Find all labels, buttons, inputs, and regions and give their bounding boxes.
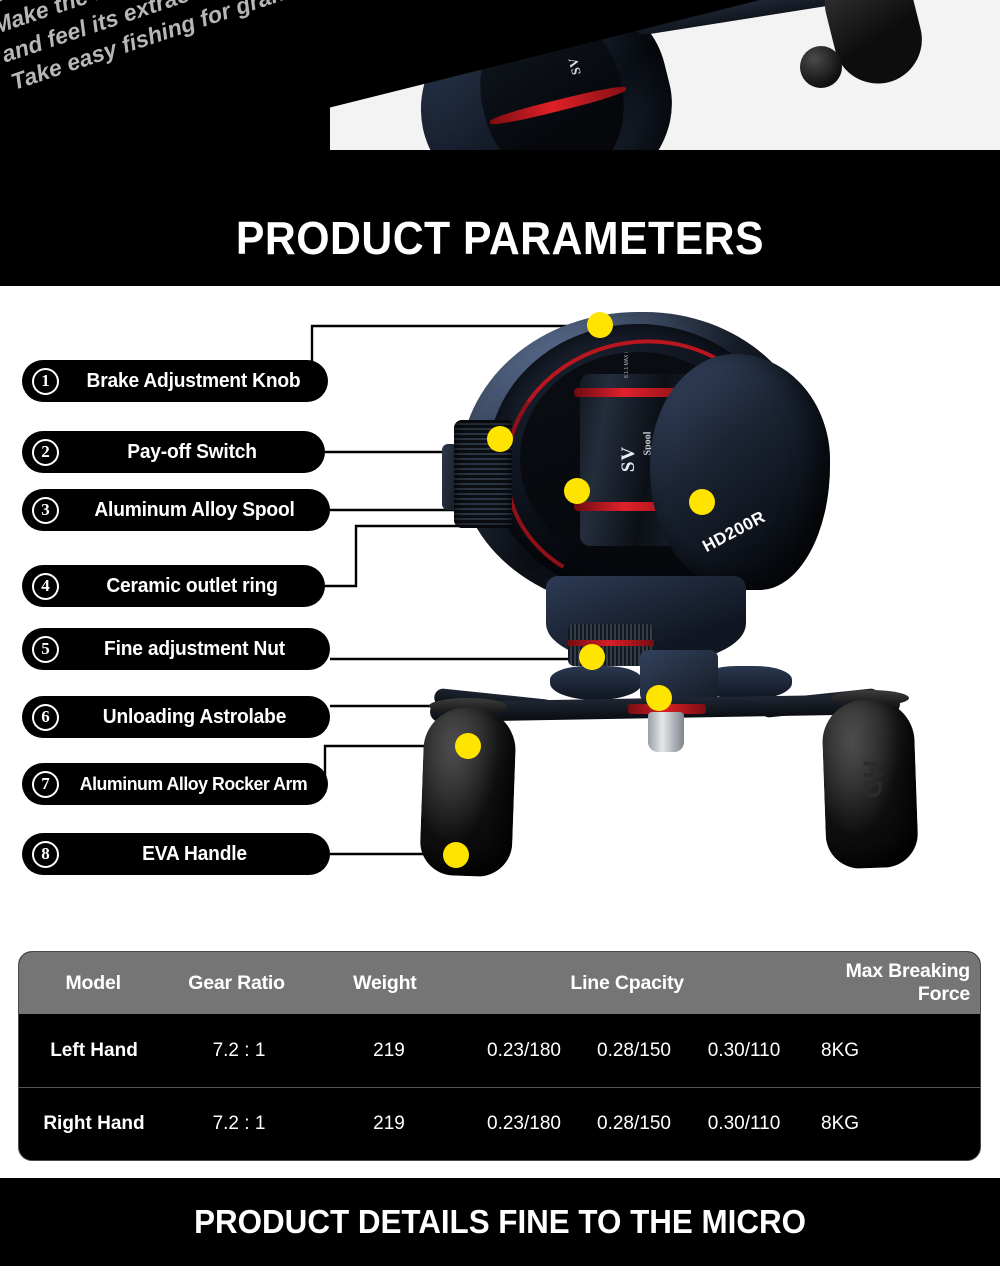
callout-dot-4 xyxy=(689,489,715,515)
header-max-breaking-force: Max Breaking Force xyxy=(790,960,980,1006)
callout-dot-3 xyxy=(564,478,590,504)
feature-label-5[interactable]: 5 Fine adjustment Nut xyxy=(22,628,330,670)
page-title: PRODUCT PARAMETERS xyxy=(236,211,764,265)
callout-dot-1 xyxy=(587,312,613,338)
feature-number-6: 6 xyxy=(32,704,59,731)
table-header-row: Model Gear Ratio Weight Line Cpacity Max… xyxy=(19,952,980,1014)
specification-table: Model Gear Ratio Weight Line Cpacity Max… xyxy=(18,951,981,1161)
cell-line-capacity-1-2: 0.30/110 xyxy=(689,1113,799,1135)
hero-brake-knob xyxy=(800,46,842,88)
hero-bottom-mask xyxy=(0,150,1000,190)
header-line-capacity-text: Line Cpacity xyxy=(464,972,790,995)
cell-line-capacity-0-2: 0.30/110 xyxy=(689,1040,799,1062)
callout-dot-6 xyxy=(646,685,672,711)
grip-emboss-marking: HD xyxy=(856,760,887,800)
product-photo-reel: SV Spool 8.1:1 MAX DRAG HD200R HD xyxy=(400,294,970,934)
cell-gear-ratio-1: 7.2 : 1 xyxy=(169,1113,309,1135)
feature-label-4[interactable]: 4 Ceramic outlet ring xyxy=(22,565,325,607)
cell-line-capacity-1: 0.23/180 0.28/150 0.30/110 xyxy=(469,1113,799,1135)
cell-weight-0: 219 xyxy=(309,1040,469,1062)
feature-label-1[interactable]: 1 Brake Adjustment Knob xyxy=(22,360,328,402)
feature-number-5: 5 xyxy=(32,636,59,663)
callout-dot-7 xyxy=(455,733,481,759)
feature-text-7: Aluminum Alloy Rocker Arm xyxy=(64,773,322,795)
header-model: Model xyxy=(19,972,167,995)
feature-label-2[interactable]: 2 Pay-off Switch xyxy=(22,431,325,473)
feature-label-3[interactable]: 3 Aluminum Alloy Spool xyxy=(22,489,330,531)
hero-product-photo: SV xyxy=(330,0,1000,163)
cell-model-0: Left Hand xyxy=(19,1040,169,1062)
section-title-banner: PRODUCT PARAMETERS xyxy=(0,190,1000,286)
feature-text-1: Brake Adjustment Knob xyxy=(64,370,322,393)
cell-line-capacity-0-0: 0.23/180 xyxy=(469,1040,579,1062)
footer-title: PRODUCT DETAILS FINE TO THE MICRO xyxy=(194,1203,806,1241)
cell-gear-ratio-0: 7.2 : 1 xyxy=(169,1040,309,1062)
feature-number-3: 3 xyxy=(32,497,59,524)
center-screw xyxy=(648,712,684,752)
feature-label-8[interactable]: 8 EVA Handle xyxy=(22,833,330,875)
spool-brand-marking: SV xyxy=(618,446,640,472)
cell-max-breaking-force-1: 8KG xyxy=(799,1113,980,1135)
feature-label-7[interactable]: 7 Aluminum Alloy Rocker Arm xyxy=(22,763,328,805)
feature-number-8: 8 xyxy=(32,841,59,868)
cell-model-1: Right Hand xyxy=(19,1113,169,1135)
cell-line-capacity-0-1: 0.28/150 xyxy=(579,1040,689,1062)
spool-micro-text: 8.1:1 MAX DRAG xyxy=(624,352,630,378)
header-gear-ratio: Gear Ratio xyxy=(167,972,305,995)
feature-text-8: EVA Handle xyxy=(64,843,324,866)
nut-red-accent xyxy=(568,640,654,646)
callout-dot-2 xyxy=(487,426,513,452)
feature-number-2: 2 xyxy=(32,439,59,466)
cell-line-capacity-1-0: 0.23/180 xyxy=(469,1113,579,1135)
callout-dot-5 xyxy=(579,644,605,670)
feature-text-3: Aluminum Alloy Spool xyxy=(64,499,324,522)
feature-number-7: 7 xyxy=(32,771,59,798)
header-weight: Weight xyxy=(306,972,464,995)
cell-line-capacity-0: 0.23/180 0.28/150 0.30/110 xyxy=(469,1040,799,1062)
feature-text-6: Unloading Astrolabe xyxy=(64,706,324,729)
cell-weight-1: 219 xyxy=(309,1113,469,1135)
feature-text-2: Pay-off Switch xyxy=(64,441,319,464)
feature-number-4: 4 xyxy=(32,573,59,600)
callout-dot-8 xyxy=(443,842,469,868)
cell-max-breaking-force-0: 8KG xyxy=(799,1040,980,1062)
feature-text-5: Fine adjustment Nut xyxy=(64,638,324,661)
product-diagram: SV Spool 8.1:1 MAX DRAG HD200R HD 1 Bra xyxy=(0,286,1000,941)
table-row: Left Hand 7.2 : 1 219 0.23/180 0.28/150 … xyxy=(19,1014,980,1087)
feature-text-4: Ceramic outlet ring xyxy=(64,575,319,598)
footer-banner: PRODUCT DETAILS FINE TO THE MICRO xyxy=(0,1178,1000,1266)
header-line-capacity: Line Cpacity xyxy=(464,972,790,995)
astrolabe-wing-left xyxy=(550,666,642,700)
feature-label-6[interactable]: 6 Unloading Astrolabe xyxy=(22,696,330,738)
hero-banner: SV of recr Ultra-lightwe reasonable bear… xyxy=(0,0,1000,190)
table-row: Right Hand 7.2 : 1 219 0.23/180 0.28/150… xyxy=(19,1087,980,1160)
cell-line-capacity-1-1: 0.28/150 xyxy=(579,1113,689,1135)
feature-number-1: 1 xyxy=(32,368,59,395)
reel-side-cover xyxy=(650,354,830,590)
